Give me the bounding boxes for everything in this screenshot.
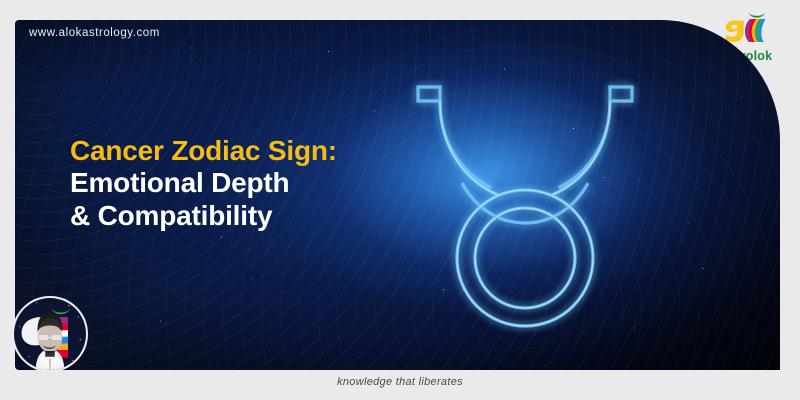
avatar[interactable] [12, 296, 88, 372]
hero-panel: www.alokastrology.com Cancer Zodiac Sign… [15, 20, 780, 370]
headline-line-3: & Compatibility [70, 200, 337, 232]
headline-line-2: Emotional Depth [70, 167, 337, 199]
footer-tagline: knowledge that liberates [0, 376, 800, 388]
astrologer-portrait-avatar [14, 298, 86, 370]
headline-line-1: Cancer Zodiac Sign: [70, 135, 337, 167]
taurus-zodiac-glyph-icon [400, 65, 650, 335]
banner-page: asttrolok [0, 0, 800, 400]
page-title: Cancer Zodiac Sign: Emotional Depth & Co… [70, 135, 337, 232]
site-url[interactable]: www.alokastrology.com [29, 27, 160, 39]
